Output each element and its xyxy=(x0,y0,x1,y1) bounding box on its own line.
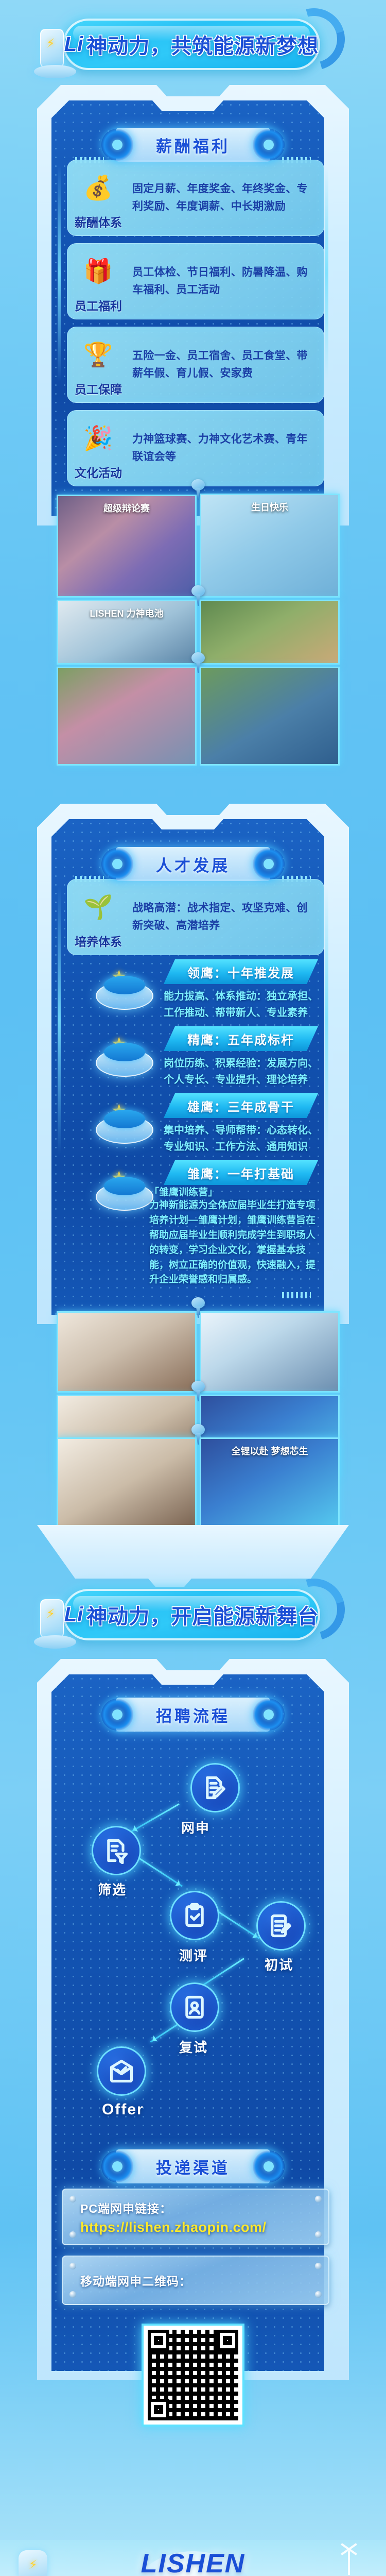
level-badge-jingying[interactable]: 精鹰：五年成标杆 xyxy=(164,1026,318,1051)
pill-ring-left-icon-2 xyxy=(101,848,133,880)
benefit-card-security-text: 五险一金、员工宿舍、员工食堂、带薪年假、育儿假、安家费 xyxy=(129,347,324,382)
pc-application-url[interactable]: https://lishen.zhaopin.com/ xyxy=(80,2219,311,2235)
section-title-talent: 人才发展 xyxy=(116,847,270,881)
benefit-card-security-label: 员工保障 xyxy=(75,380,122,397)
section-title-talent-text: 人才发展 xyxy=(156,853,230,876)
flow-node-offer[interactable] xyxy=(97,2046,146,2096)
gallery-photo-debate-caption: 超级辩论赛 xyxy=(58,501,195,515)
lightning-bolt-icon: ⚡ xyxy=(46,36,55,51)
header-banner-bottom: ⚡ Li 神动力，开启能源新舞台 xyxy=(31,1582,355,1648)
party-popper-icon: 🎉 文化活动 xyxy=(67,411,129,486)
party-popper-icon-glyph: 🎉 xyxy=(83,424,113,452)
sprout-icon-glyph: 🌱 xyxy=(83,893,113,921)
banner-title-bottom: Li 神动力，开启能源新舞台 xyxy=(63,1589,320,1640)
trophy-icon: 🏆 员工保障 xyxy=(67,327,129,402)
develop-card-label: 培养体系 xyxy=(75,932,122,950)
qr-code-image xyxy=(148,2330,238,2420)
develop-card-text: 战略高潜：战术指定、攻坚克难、创新突破、高潜培养 xyxy=(129,900,324,935)
level-badge-lingying[interactable]: 领鹰：十年推发展 xyxy=(164,959,318,984)
footer-visual: LISHEN ⚡ 90Ah LMFP136Ah LFP324Ah xyxy=(0,2540,386,2576)
section-title-salary-text: 薪酬福利 xyxy=(156,133,230,157)
gallery-photo-presenter-female-caption: 全锂以赴 梦想芯生 xyxy=(201,1444,338,1458)
benefit-card-welfare-label: 员工福利 xyxy=(75,296,122,314)
level-desc-jingying: 岗位历练、积累经验：发展方向、个人专长、专业提升、理论培养 xyxy=(164,1055,321,1088)
pc-application-label: PC端网申链接： xyxy=(80,2199,311,2216)
banner-title-top: Li 神动力，共筑能源新梦想 xyxy=(63,19,320,70)
level-badge-xiongying[interactable]: 雄鹰：三年成骨干 xyxy=(164,1093,318,1118)
benefit-card-culture-label: 文化活动 xyxy=(75,463,122,481)
mail-check-icon xyxy=(108,2058,135,2084)
podium-xiongying-icon: ★ xyxy=(94,1103,155,1147)
stage-base-decor xyxy=(37,1525,349,1587)
flow-label-online-application: 网申 xyxy=(181,1818,210,1837)
podium-chuying-icon: ★ xyxy=(94,1170,155,1214)
flow-node-second-interview[interactable] xyxy=(170,1982,219,2032)
pin-icon-2 xyxy=(191,585,205,606)
banner-prefix-2: Li xyxy=(64,1603,84,1626)
mobile-qr-plate: 移动端网申二维码： xyxy=(62,2256,329,2305)
section-title-channel-text: 投递渠道 xyxy=(156,2155,230,2178)
flow-label-screening: 筛选 xyxy=(98,1879,127,1899)
pin-icon-4 xyxy=(191,1297,205,1318)
gallery-photo-basketball[interactable] xyxy=(200,667,340,766)
flow-node-screening[interactable] xyxy=(92,1826,141,1875)
pin-icon-1 xyxy=(191,479,205,500)
interview-doc-icon xyxy=(268,1912,294,1939)
flow-node-assessment[interactable] xyxy=(170,1891,219,1940)
trophy-icon-glyph: 🏆 xyxy=(83,341,113,369)
gallery-photo-teamgame[interactable] xyxy=(57,667,197,766)
profile-card-icon xyxy=(181,1994,208,2021)
side-glow-right xyxy=(325,165,328,381)
side-glow-left xyxy=(58,165,61,381)
gallery-photo-contest[interactable]: LISHEN 力神电池 xyxy=(57,600,197,665)
mascot-robot-icon: ⚡ xyxy=(19,2550,47,2576)
form-edit-icon xyxy=(202,1774,229,1801)
benefit-card-welfare-text: 员工体检、节日福利、防暑降温、购车福利、员工活动 xyxy=(129,264,324,299)
level-badge-jingying-text: 精鹰：五年成标杆 xyxy=(187,1030,294,1048)
gallery-photo-birthday-caption: 生日快乐 xyxy=(201,500,338,514)
section-title-process-text: 招聘流程 xyxy=(156,1703,230,1726)
gallery-photo-outdoor[interactable] xyxy=(200,600,340,665)
wallet-icon: 💰 薪酬体系 xyxy=(67,160,129,235)
tick-marks-right-4 xyxy=(282,1292,311,1298)
benefit-card-culture[interactable]: 🎉 文化活动 力神篮球赛、力神文化艺术赛、青年联谊会等 xyxy=(67,410,324,486)
podium-jingying-icon: ★ xyxy=(94,1036,155,1080)
level-paragraph-chuying: 力神新能源为全体应届毕业生打造专项培养计划—雏鹰计划，雏鹰训练营旨在帮助应届毕业… xyxy=(149,1198,319,1287)
benefit-card-security[interactable]: 🏆 员工保障 五险一金、员工宿舍、员工食堂、带薪年假、育儿假、安家费 xyxy=(67,327,324,403)
pill-ring-right-icon xyxy=(253,129,285,161)
gallery-photo-classroom[interactable] xyxy=(57,1311,197,1393)
section-title-salary: 薪酬福利 xyxy=(116,128,270,162)
mobile-qr-label: 移动端网申二维码： xyxy=(80,2272,311,2289)
filter-doc-icon xyxy=(103,1837,130,1864)
mascot-bolt-icon: ⚡ xyxy=(29,2557,38,2572)
benefit-card-salary-label: 薪酬体系 xyxy=(75,213,122,230)
podium-lingying-icon: ★ xyxy=(94,969,155,1013)
pill-ring-right-icon-2 xyxy=(253,848,285,880)
gallery-photo-contest-caption: LISHEN 力神电池 xyxy=(58,606,195,620)
sprout-icon: 🌱 培养体系 xyxy=(67,879,129,955)
pill-ring-right-icon-3 xyxy=(253,1699,285,1731)
gallery-photo-birthday[interactable]: 生日快乐 xyxy=(200,494,340,598)
pin-icon-3 xyxy=(191,652,205,673)
mobile-application-qr-code[interactable] xyxy=(142,2324,244,2427)
pill-ring-left-icon-4 xyxy=(101,2150,133,2182)
flow-node-first-interview[interactable] xyxy=(256,1901,306,1951)
level-badge-lingying-text: 领鹰：十年推发展 xyxy=(187,963,294,981)
pill-ring-left-icon-3 xyxy=(101,1699,133,1731)
level-badge-chuying-text: 雏鹰：一年打基础 xyxy=(187,1164,294,1182)
side-glow-right-2 xyxy=(325,886,328,1154)
pill-ring-left-icon xyxy=(101,129,133,161)
flow-label-assessment: 测评 xyxy=(179,1945,208,1964)
pin-icon-6 xyxy=(191,1424,205,1445)
side-glow-left-2 xyxy=(58,886,61,1154)
lightning-bolt-icon-2: ⚡ xyxy=(46,1606,55,1621)
gallery-photo-debate[interactable]: 超级辩论赛 xyxy=(57,495,197,598)
pin-icon-5 xyxy=(191,1381,205,1401)
flow-label-first-interview: 初试 xyxy=(265,1955,293,1974)
flow-label-second-interview: 复试 xyxy=(179,2037,208,2056)
benefit-card-salary-text: 固定月薪、年度奖金、年终奖金、专利奖励、年度调薪、中长期激励 xyxy=(129,180,324,215)
pill-ring-right-icon-4 xyxy=(253,2150,285,2182)
benefit-card-welfare[interactable]: 🎁 员工福利 员工体检、节日福利、防暑降温、购车福利、员工活动 xyxy=(67,243,324,319)
clipboard-check-icon xyxy=(181,1902,208,1929)
gallery-photo-presenter-male[interactable] xyxy=(57,1437,197,1529)
gallery-photo-presenter-female[interactable]: 全锂以赴 梦想芯生 xyxy=(200,1437,340,1529)
level-desc-lingying: 能力拔高、体系推动：独立承担、工作推动、帮带新人、专业素养 xyxy=(164,988,321,1021)
level-badge-chuying[interactable]: 雏鹰：一年打基础 xyxy=(164,1160,318,1185)
wallet-icon-glyph: 💰 xyxy=(83,174,113,202)
section-title-channel: 投递渠道 xyxy=(116,2149,270,2183)
gift-icon-glyph: 🎁 xyxy=(83,257,113,285)
develop-card-training-system[interactable]: 🌱 培养体系 战略高潜：战术指定、攻坚克难、创新突破、高潜培养 xyxy=(67,879,324,955)
flow-label-offer: Offer xyxy=(102,2101,144,2119)
gift-icon: 🎁 员工福利 xyxy=(67,244,129,319)
section-title-process: 招聘流程 xyxy=(116,1698,270,1732)
header-banner-top: ⚡ Li 神动力，共筑能源新梦想 xyxy=(31,11,355,77)
benefit-card-culture-text: 力神篮球赛、力神文化艺术赛、青年联谊会等 xyxy=(129,431,324,466)
gallery-photo-graduation[interactable] xyxy=(200,1311,340,1393)
banner-prefix: Li xyxy=(64,33,84,56)
company-logo: LISHEN xyxy=(141,2548,245,2576)
wind-turbine-icon xyxy=(348,2551,350,2575)
pc-application-plate[interactable]: PC端网申链接： https://lishen.zhaopin.com/ xyxy=(62,2189,329,2245)
flow-node-online-application[interactable] xyxy=(190,1763,240,1812)
benefit-card-salary[interactable]: 💰 薪酬体系 固定月薪、年度奖金、年终奖金、专利奖励、年度调薪、中长期激励 xyxy=(67,160,324,236)
level-badge-xiongying-text: 雄鹰：三年成骨干 xyxy=(187,1097,294,1115)
banner-title-text-2: 神动力，开启能源新舞台 xyxy=(86,1600,319,1630)
level-desc-xiongying: 集中培养、导师帮带：心态转化、专业知识、工作方法、通用知识 xyxy=(164,1122,321,1155)
banner-title-text: 神动力，共筑能源新梦想 xyxy=(86,29,319,59)
